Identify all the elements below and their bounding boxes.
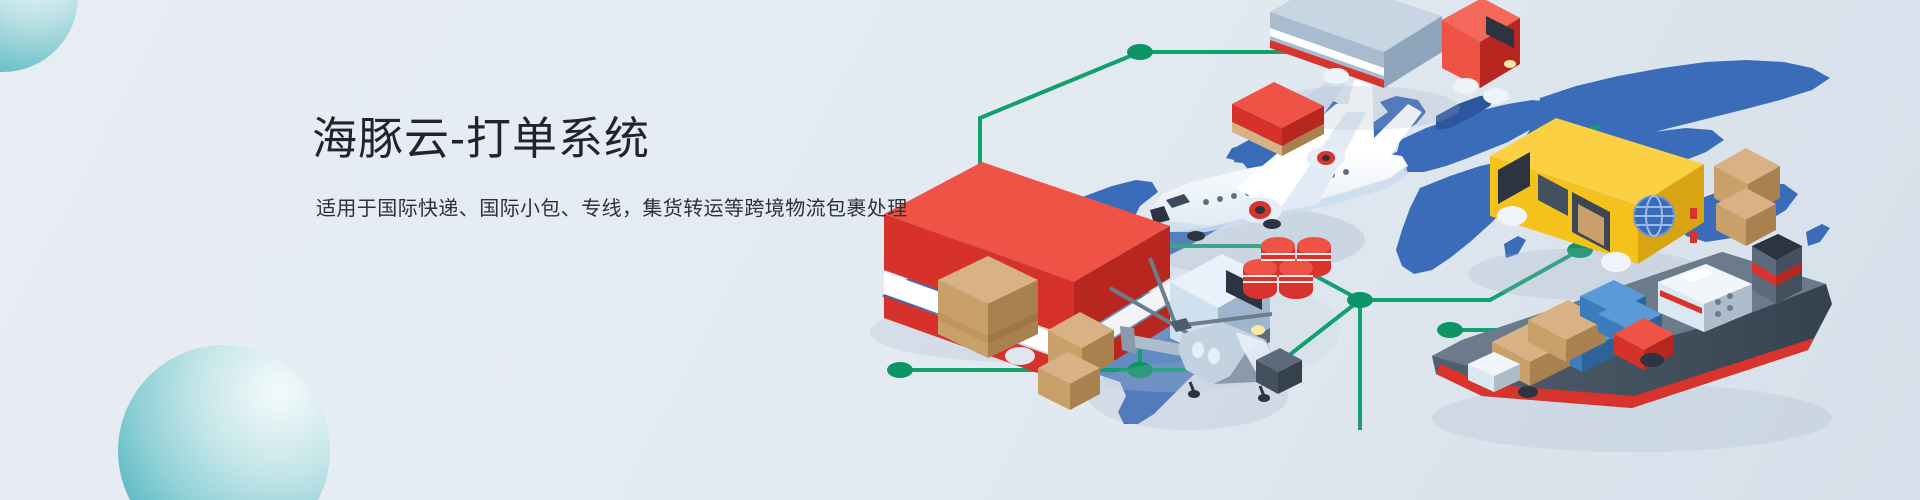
van-tail-light [1690,208,1697,219]
network-node [1437,322,1463,338]
box-truck-wheel [1483,88,1509,104]
truck-wheel [1005,347,1035,365]
airplane-wheel [1187,231,1205,241]
isometric-global-logistics-map [840,0,1920,500]
airplane-engine-front [1238,197,1282,223]
van-cargo-boxes [1714,148,1780,246]
helicopter-tail-fin [1120,326,1136,354]
van-wheel [1601,252,1631,272]
airplane-wheel [1263,219,1281,229]
van-wheel [1497,206,1527,226]
ship-funnel [1752,234,1802,304]
hero-text-block: 海豚云-打单系统 适用于国际快递、国际小包、专线，集货转运等跨境物流包裹处理 [312,112,908,223]
globe-emblem-icon [1634,196,1674,236]
decorative-circle-bottom-left [118,345,330,500]
box-truck-wheel [1323,68,1349,84]
van-tail-light [1690,232,1697,243]
landmass-newzealand [1806,224,1830,246]
box-truck-cab [1442,0,1520,88]
box-truck-headlight [1504,60,1516,68]
decorative-circle-top-left [0,0,78,72]
hero-banner: 海豚云-打单系统 适用于国际快递、国际小包、专线，集货转运等跨境物流包裹处理 [0,0,1920,500]
network-node [887,362,913,378]
box-truck-wheel [1453,78,1479,94]
network-node [1127,44,1153,60]
cab-headlight [1251,325,1265,335]
page-subtitle: 适用于国际快递、国际小包、专线，集货转运等跨境物流包裹处理 [316,195,908,223]
page-title: 海豚云-打单系统 [312,112,908,165]
airplane-engine-rear [1307,147,1345,169]
network-node [1347,292,1373,308]
